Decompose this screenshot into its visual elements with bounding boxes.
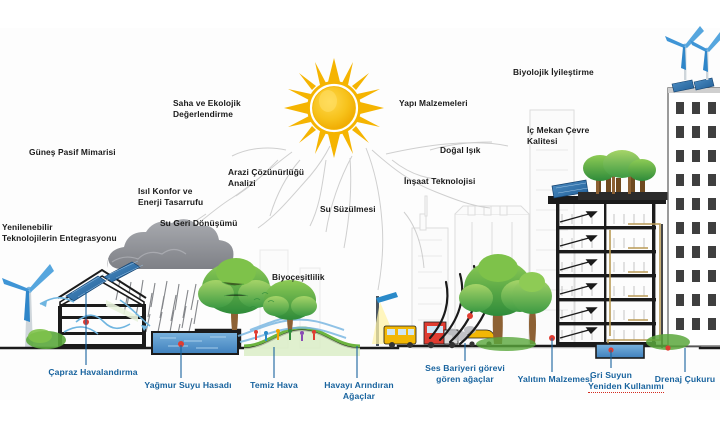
high-rise-building	[646, 26, 720, 351]
sun-icon	[284, 58, 384, 158]
rain-drops	[116, 280, 198, 338]
label-dogal-isik: Doğal Işık	[440, 145, 481, 156]
hotspot-dot	[467, 313, 473, 319]
label-yapi-malzemeleri: Yapı Malzemeleri	[399, 98, 468, 109]
label-su-suzulmesi: Su Süzülmesi	[320, 204, 376, 215]
label-isil-konfor: Isıl Konfor ve Enerji Tasarrufu	[138, 186, 203, 207]
label-gri-suyun: Gri Suyun	[580, 370, 642, 381]
green-roof	[578, 150, 674, 200]
misspelled-text: Yeniden Kullanımı	[588, 381, 664, 393]
label-ses-bariyeri: Ses Bariyeri görevi gören ağaçlar	[414, 363, 516, 384]
wind-turbine-icon	[665, 26, 720, 80]
water-basin	[152, 332, 238, 354]
shrub-icon	[28, 329, 52, 343]
water-tank	[596, 344, 644, 358]
label-saha-ekolojik: Saha ve Ekolojik Değerlendirme	[173, 98, 241, 119]
label-gunes-pasif-mimarisi: Güneş Pasif Mimarisi	[29, 147, 116, 158]
bus-icon	[384, 326, 416, 348]
label-temiz-hava: Temiz Hava	[238, 380, 310, 391]
label-capraz-havalandirma: Çapraz Havalandırma	[38, 367, 148, 378]
label-insaat-teknolojisi: İnşaat Teknolojisi	[404, 176, 475, 187]
label-gri-suyun-line2: Yeniden Kullanımı	[578, 381, 674, 392]
label-su-geri-donusumu: Su Geri Dönüşümü	[160, 218, 237, 229]
label-biyocesitlilik: Biyoçeşitlilik	[272, 272, 325, 283]
label-yenilenebilir: Yenilenebilir Teknolojilerin Entegrasyon…	[2, 222, 117, 243]
label-yagmur-suyu-hasadi: Yağmur Suyu Hasadı	[134, 380, 242, 391]
label-ic-mekan-cevre: İç Mekan Çevre Kalitesi	[527, 125, 589, 146]
label-havayi-arindiran: Havayı Arındıran Ağaçlar	[316, 380, 402, 401]
infographic-root: Güneş Pasif MimarisiSaha ve Ekolojik Değ…	[0, 0, 720, 427]
label-arazi-cozunurlugu: Arazi Çözünürlüğü Analizi	[228, 167, 304, 188]
label-biyolojik-iyilestirme: Biyolojik İyileştirme	[513, 67, 594, 78]
